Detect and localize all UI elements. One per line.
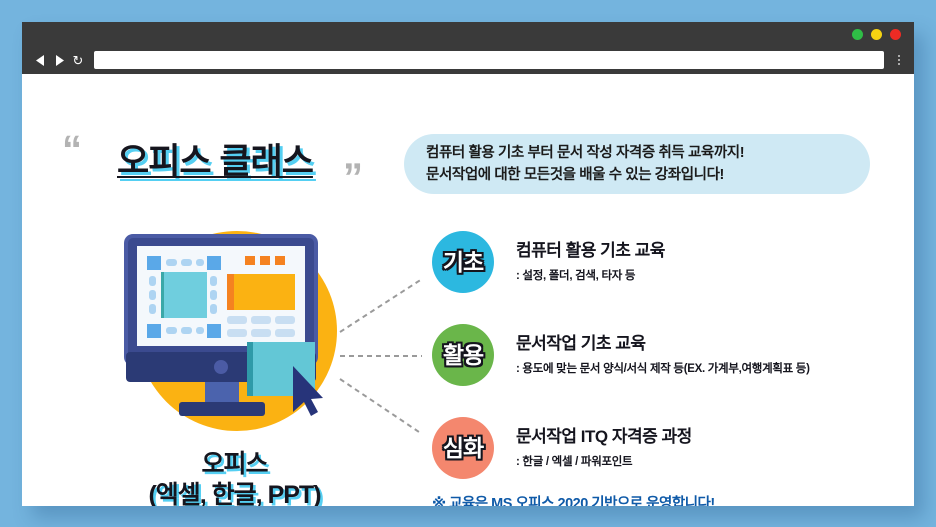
forward-arrow-icon[interactable] bbox=[51, 49, 67, 71]
intro-bubble: 컴퓨터 활용 기초 부터 문서 작성 자격증 취득 교육까지! 문서작업에 대한… bbox=[404, 134, 870, 194]
browser-navbar: ↻ bbox=[22, 46, 914, 74]
course-text-basic: 컴퓨터 활용 기초 교육 : 설정, 폴더, 검색, 타자 등 bbox=[516, 240, 665, 283]
course-title-applied: 문서작업 기초 교육 bbox=[516, 333, 810, 355]
browser-titlebar bbox=[22, 22, 914, 46]
footnote-text: ※ 교육은 MS 오피스 2020 기반으로 운영합니다! bbox=[432, 492, 715, 506]
course-title-advanced: 문서작업 ITQ 자격증 과정 bbox=[516, 426, 692, 448]
course-detail-applied: : 용도에 맞는 문서 양식/서식 제작 등(EX. 가계부,여행계획표 등) bbox=[516, 362, 810, 377]
course-item-advanced[interactable]: 심화 문서작업 ITQ 자격증 과정 : 한글 / 엑셀 / 파워포인트 bbox=[432, 417, 692, 479]
browser-window: ↻ “ 오피스 클래스 ” 컴퓨터 활용 기초 부터 문서 작성 자격증 취득 … bbox=[22, 22, 914, 506]
course-badge-basic-label: 기초 bbox=[443, 251, 483, 274]
course-detail-basic: : 설정, 폴더, 검색, 타자 등 bbox=[516, 269, 665, 284]
course-badge-applied-label: 활용 bbox=[443, 344, 483, 367]
reload-icon[interactable]: ↻ bbox=[70, 49, 86, 71]
illustration-caption-line2: (엑셀, 한글, PPT) bbox=[97, 480, 372, 506]
page-title: 오피스 클래스 bbox=[117, 142, 313, 182]
course-detail-advanced: : 한글 / 엑셀 / 파워포인트 bbox=[516, 455, 692, 470]
intro-bubble-line1: 컴퓨터 활용 기초 부터 문서 작성 자격증 취득 교육까지! bbox=[426, 142, 848, 164]
quote-open-mark: “ bbox=[62, 130, 81, 170]
intro-bubble-line2: 문서작업에 대한 모든것을 배울 수 있는 강좌입니다! bbox=[426, 164, 848, 186]
illustration-caption-line1: 오피스 bbox=[201, 450, 267, 478]
maximize-dot[interactable] bbox=[852, 29, 863, 40]
quote-close-mark: ” bbox=[343, 158, 362, 198]
page-content: “ 오피스 클래스 ” 컴퓨터 활용 기초 부터 문서 작성 자격증 취득 교육… bbox=[22, 74, 914, 506]
desktop-computer-illustration bbox=[117, 224, 347, 439]
address-bar[interactable] bbox=[94, 51, 884, 69]
course-title-basic: 컴퓨터 활용 기초 교육 bbox=[516, 240, 665, 262]
course-badge-applied: 활용 bbox=[432, 324, 494, 386]
back-arrow-icon[interactable] bbox=[32, 49, 48, 71]
course-item-basic[interactable]: 기초 컴퓨터 활용 기초 교육 : 설정, 폴더, 검색, 타자 등 bbox=[432, 231, 665, 293]
screenshot-root: ↻ “ 오피스 클래스 ” 컴퓨터 활용 기초 부터 문서 작성 자격증 취득 … bbox=[0, 0, 936, 527]
minimize-dot[interactable] bbox=[871, 29, 882, 40]
window-controls bbox=[852, 29, 901, 40]
course-item-applied[interactable]: 활용 문서작업 기초 교육 : 용도에 맞는 문서 양식/서식 제작 등(EX.… bbox=[432, 324, 810, 386]
course-badge-advanced: 심화 bbox=[432, 417, 494, 479]
close-dot[interactable] bbox=[890, 29, 901, 40]
illustration-caption: 오피스 (엑셀, 한글, PPT) bbox=[97, 449, 372, 506]
course-badge-advanced-label: 심화 bbox=[443, 437, 483, 460]
course-text-applied: 문서작업 기초 교육 : 용도에 맞는 문서 양식/서식 제작 등(EX. 가계… bbox=[516, 333, 810, 376]
kebab-menu-icon[interactable] bbox=[892, 49, 906, 71]
course-badge-basic: 기초 bbox=[432, 231, 494, 293]
course-text-advanced: 문서작업 ITQ 자격증 과정 : 한글 / 엑셀 / 파워포인트 bbox=[516, 426, 692, 469]
